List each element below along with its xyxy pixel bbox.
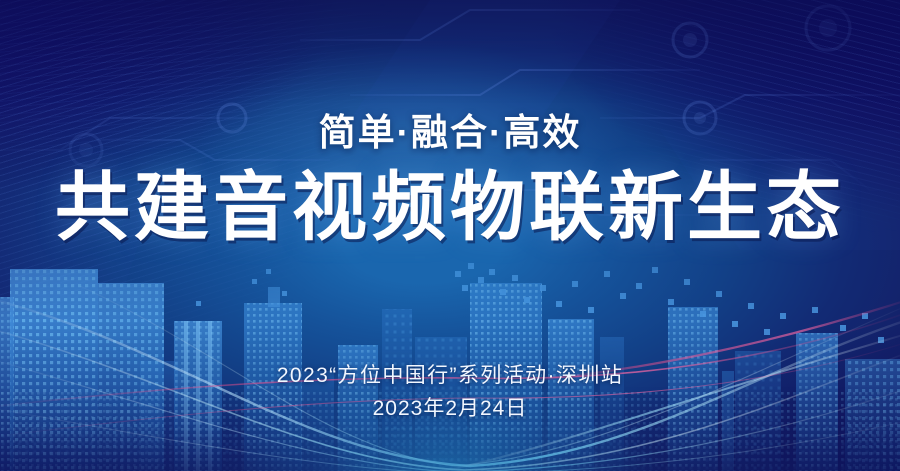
event-banner: 简单·融合·高效 共建音视频物联新生态 2023“方位中国行”系列活动·深圳站 … bbox=[0, 0, 900, 471]
banner-subtitle-group: 2023“方位中国行”系列活动·深圳站 2023年2月24日 bbox=[277, 360, 623, 426]
banner-subtitle: 2023“方位中国行”系列活动·深圳站 bbox=[277, 360, 623, 393]
banner-date: 2023年2月24日 bbox=[277, 392, 623, 426]
banner-kicker: 简单·融合·高效 bbox=[319, 112, 582, 155]
banner-content: 简单·融合·高效 共建音视频物联新生态 2023“方位中国行”系列活动·深圳站 … bbox=[0, 0, 900, 471]
banner-headline: 共建音视频物联新生态 bbox=[55, 167, 845, 248]
